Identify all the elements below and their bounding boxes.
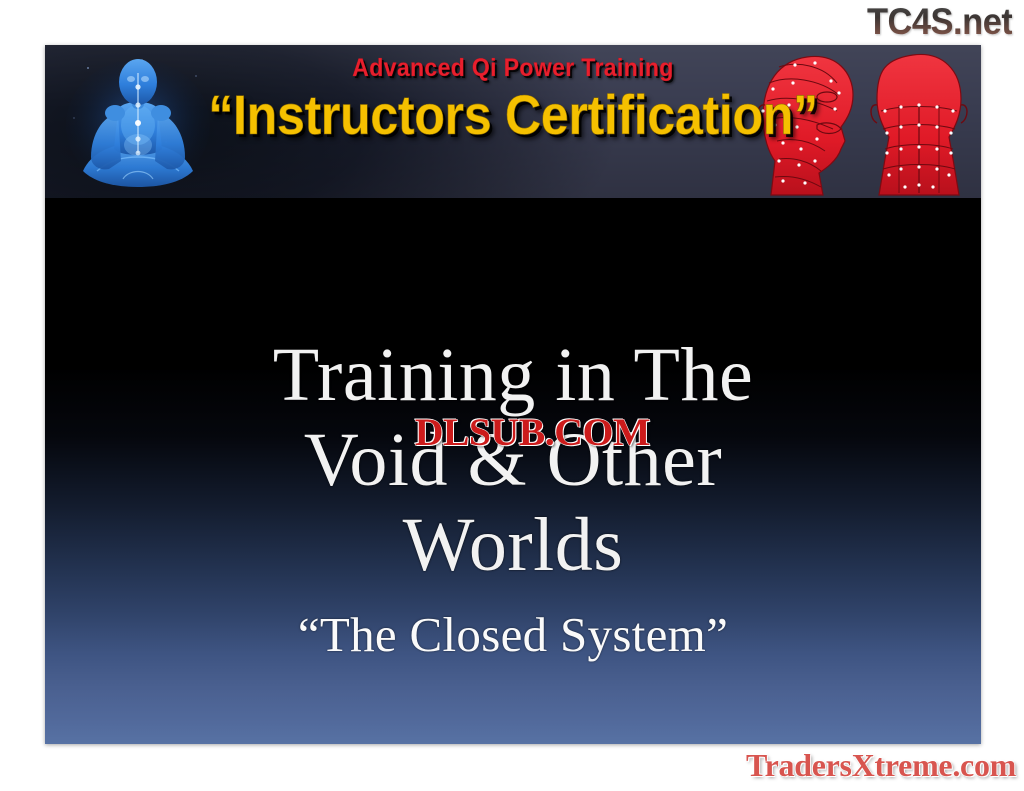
page-root: Advanced Qi Power Training “Instructors … [0, 0, 1024, 791]
banner-eyebrow-text: Advanced Qi Power Training [82, 54, 943, 83]
slide-title-line-1: Training in The [45, 333, 981, 418]
watermark-tradersxtreme: TradersXtreme.com [746, 747, 1016, 783]
slide-banner: Advanced Qi Power Training “Instructors … [45, 45, 981, 198]
slide-title-line-3: Worlds [45, 503, 981, 588]
presentation-slide: Advanced Qi Power Training “Instructors … [45, 45, 981, 744]
slide-title: Training in The Void & Other Worlds [45, 333, 981, 588]
watermark-dlsub: DLSUB.COM [415, 413, 650, 453]
slide-subtitle: “The Closed System” [45, 607, 981, 663]
watermark-tc4s: TC4S.net [867, 2, 1012, 42]
banner-headline-text: “Instructors Certification” [92, 86, 934, 145]
